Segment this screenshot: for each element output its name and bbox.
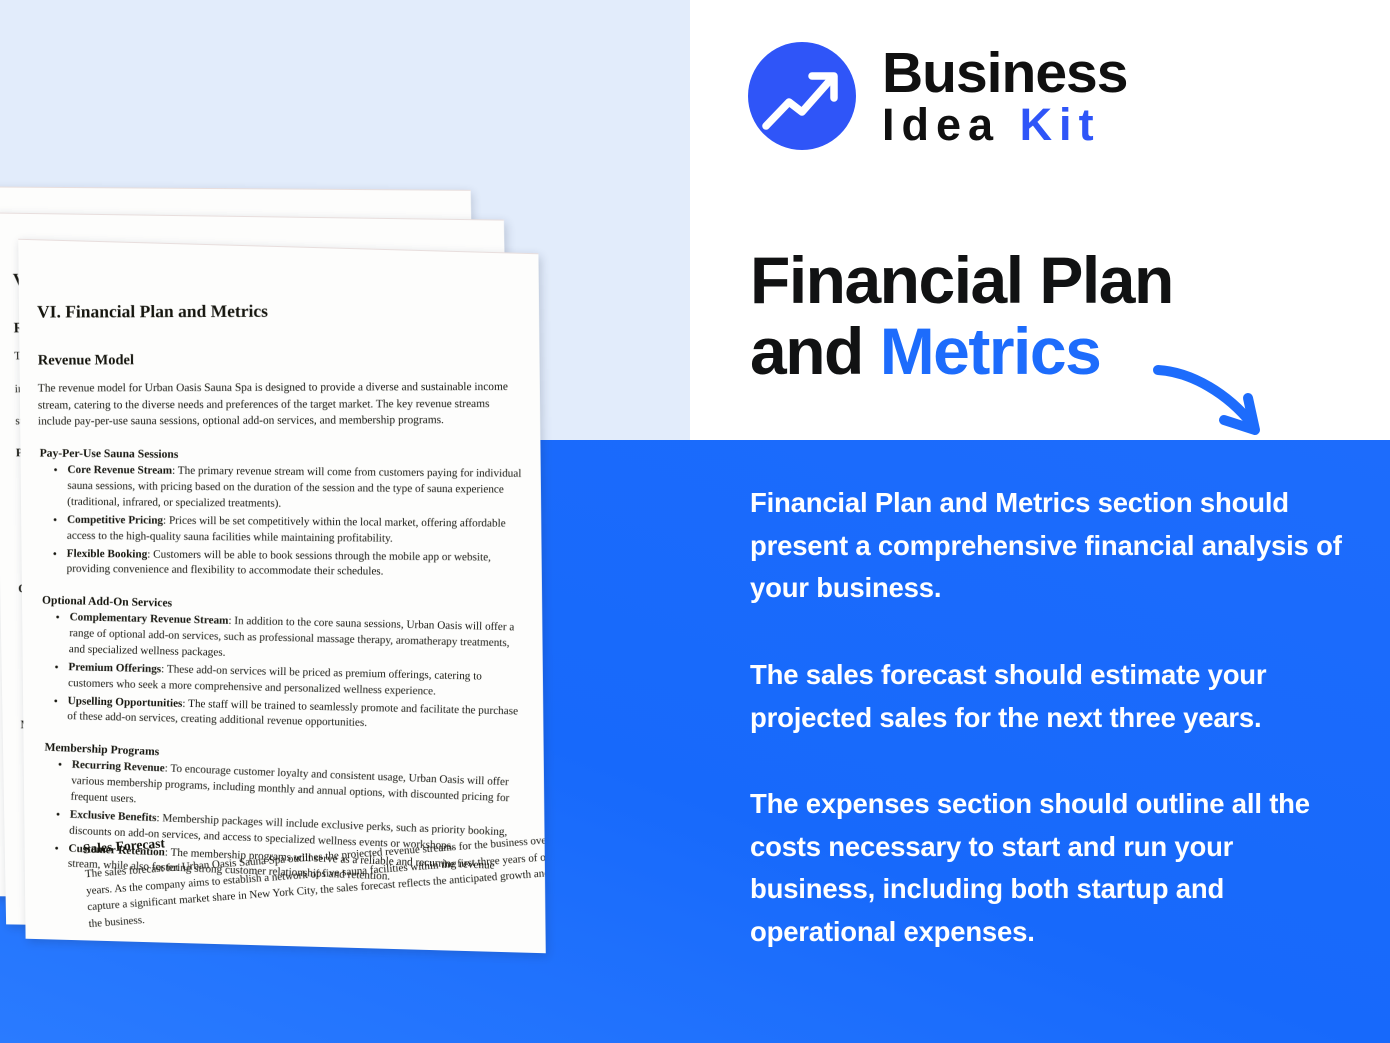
document-stack: VI Rev The inco strea Pay VI Rev The inc… <box>0 188 738 948</box>
page-title-metrics: Metrics <box>880 314 1101 388</box>
brand-name-kit: Kit <box>1020 99 1101 150</box>
document-page-front: VI. Financial Plan and Metrics Revenue M… <box>18 239 546 953</box>
bullet-label: Recurring Revenue <box>72 759 165 775</box>
list-item: Complementary Revenue Stream: In additio… <box>41 609 528 668</box>
group-bullet-list: Complementary Revenue Stream: In additio… <box>39 609 527 735</box>
page-title-line-1: Financial Plan <box>750 245 1310 316</box>
curved-arrow-down-right-icon <box>1152 358 1282 448</box>
document-group-pay-per-use: Pay-Per-Use Sauna Sessions Core Revenue … <box>39 446 526 582</box>
brand-logo-text: Business Idea Kit <box>882 46 1127 147</box>
panel-paragraph-2: The sales forecast should estimate your … <box>750 654 1350 739</box>
bullet-label: Competitive Pricing <box>67 513 163 526</box>
poster-canvas: VI Rev The inco strea Pay VI Rev The inc… <box>0 0 1390 1043</box>
panel-paragraph-1: Financial Plan and Metrics section shoul… <box>750 482 1350 610</box>
bullet-label: Upselling Opportunities <box>68 695 183 710</box>
panel-description: Financial Plan and Metrics section shoul… <box>750 482 1350 954</box>
brand-logo[interactable]: Business Idea Kit <box>748 42 1127 150</box>
brand-name-idea: Idea <box>882 99 1000 150</box>
trend-up-arrow-icon <box>748 42 856 150</box>
bullet-label: Exclusive Benefits <box>70 809 157 824</box>
bullet-label: Complementary Revenue Stream <box>69 611 228 627</box>
list-item: Competitive Pricing: Prices will be set … <box>39 512 525 548</box>
panel-paragraph-3: The expenses section should outline all … <box>750 783 1350 954</box>
list-item: Flexible Booking: Customers will be able… <box>39 546 525 582</box>
document-revenue-model-paragraph: The revenue model for Urban Oasis Sauna … <box>38 379 524 430</box>
bullet-label: Flexible Booking <box>67 547 148 560</box>
group-bullet-list: Core Revenue Stream: The primary revenue… <box>39 462 526 582</box>
list-item: Core Revenue Stream: The primary revenue… <box>39 462 525 514</box>
document-section-heading-revenue-model: Revenue Model <box>38 351 524 370</box>
bullet-label: Premium Offerings <box>68 661 161 675</box>
bullet-label: Core Revenue Stream <box>67 463 172 476</box>
group-heading: Pay-Per-Use Sauna Sessions <box>40 446 526 463</box>
document-group-optional-add-on: Optional Add-On Services Complementary R… <box>39 593 528 735</box>
document-title: VI. Financial Plan and Metrics <box>37 300 523 323</box>
page-title-and: and <box>750 314 863 388</box>
document-page-front-content: VI. Financial Plan and Metrics Revenue M… <box>18 244 545 888</box>
brand-name-line2: Idea Kit <box>882 104 1127 147</box>
brand-name-line1: Business <box>882 46 1127 100</box>
